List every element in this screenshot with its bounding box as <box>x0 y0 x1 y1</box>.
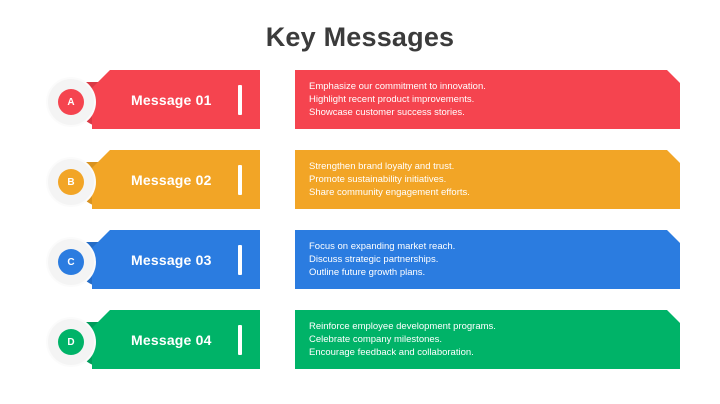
message-detail-line: Strengthen brand loyalty and trust. <box>309 160 680 173</box>
message-detail-line: Discuss strategic partnerships. <box>309 253 680 266</box>
message-detail-line: Outline future growth plans. <box>309 266 680 279</box>
message-detail-line: Highlight recent product improvements. <box>309 93 680 106</box>
step-badge[interactable]: B <box>48 159 94 205</box>
step-badge-letter: C <box>58 249 84 275</box>
step-badge[interactable]: C <box>48 239 94 285</box>
message-banner[interactable]: Message 01 <box>92 70 260 129</box>
message-banner[interactable]: Message 03 <box>92 230 260 289</box>
message-row: Message 01AEmphasize our commitment to i… <box>0 70 720 132</box>
step-badge[interactable]: A <box>48 79 94 125</box>
message-detail-panel[interactable]: Reinforce employee development programs.… <box>295 310 680 369</box>
step-badge-letter: D <box>58 329 84 355</box>
step-badge-letter: A <box>58 89 84 115</box>
message-row: Message 04DReinforce employee developmen… <box>0 310 720 372</box>
message-detail-panel[interactable]: Emphasize our commitment to innovation.H… <box>295 70 680 129</box>
message-detail-line: Showcase customer success stories. <box>309 106 680 119</box>
message-detail-panel[interactable]: Focus on expanding market reach.Discuss … <box>295 230 680 289</box>
page-title: Key Messages <box>0 22 720 53</box>
message-banner-label: Message 01 <box>131 92 212 108</box>
message-list: Message 01AEmphasize our commitment to i… <box>0 70 720 390</box>
step-badge-letter: B <box>58 169 84 195</box>
message-detail-line: Emphasize our commitment to innovation. <box>309 80 680 93</box>
banner-divider-bar <box>238 325 242 355</box>
message-banner[interactable]: Message 04 <box>92 310 260 369</box>
banner-divider-bar <box>238 245 242 275</box>
message-banner-label: Message 04 <box>131 332 212 348</box>
banner-divider-bar <box>238 85 242 115</box>
banner-divider-bar <box>238 165 242 195</box>
message-banner[interactable]: Message 02 <box>92 150 260 209</box>
message-row: Message 03CFocus on expanding market rea… <box>0 230 720 292</box>
message-detail-line: Encourage feedback and collaboration. <box>309 346 680 359</box>
message-detail-line: Promote sustainability initiatives. <box>309 173 680 186</box>
message-row: Message 02BStrengthen brand loyalty and … <box>0 150 720 212</box>
message-banner-label: Message 02 <box>131 172 212 188</box>
message-banner-label: Message 03 <box>131 252 212 268</box>
message-detail-line: Reinforce employee development programs. <box>309 320 680 333</box>
step-badge[interactable]: D <box>48 319 94 365</box>
message-detail-line: Share community engagement efforts. <box>309 186 680 199</box>
message-detail-line: Celebrate company milestones. <box>309 333 680 346</box>
message-detail-line: Focus on expanding market reach. <box>309 240 680 253</box>
message-detail-panel[interactable]: Strengthen brand loyalty and trust.Promo… <box>295 150 680 209</box>
